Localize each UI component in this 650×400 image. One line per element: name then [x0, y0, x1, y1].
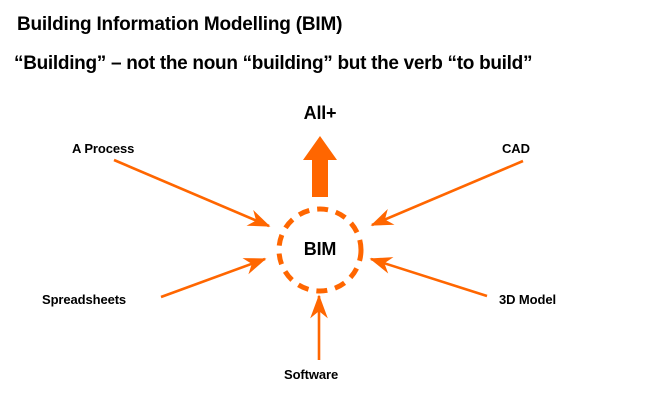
bim-diagram	[0, 0, 650, 400]
arrow-cad	[372, 161, 523, 225]
arrow-3d-model	[371, 259, 487, 296]
center-node-label: BIM	[275, 239, 365, 260]
input-label-a-process: A Process	[72, 141, 134, 156]
output-arrow-up	[303, 136, 337, 197]
input-label-3d-model: 3D Model	[499, 292, 556, 307]
arrow-a-process	[114, 160, 269, 226]
input-label-cad: CAD	[502, 141, 530, 156]
output-node-label: All+	[275, 103, 365, 124]
input-label-spreadsheets: Spreadsheets	[42, 292, 126, 307]
arrow-spreadsheets	[161, 259, 265, 297]
slide-canvas: Building Information Modelling (BIM) “Bu…	[0, 0, 650, 400]
input-label-software: Software	[284, 367, 338, 382]
